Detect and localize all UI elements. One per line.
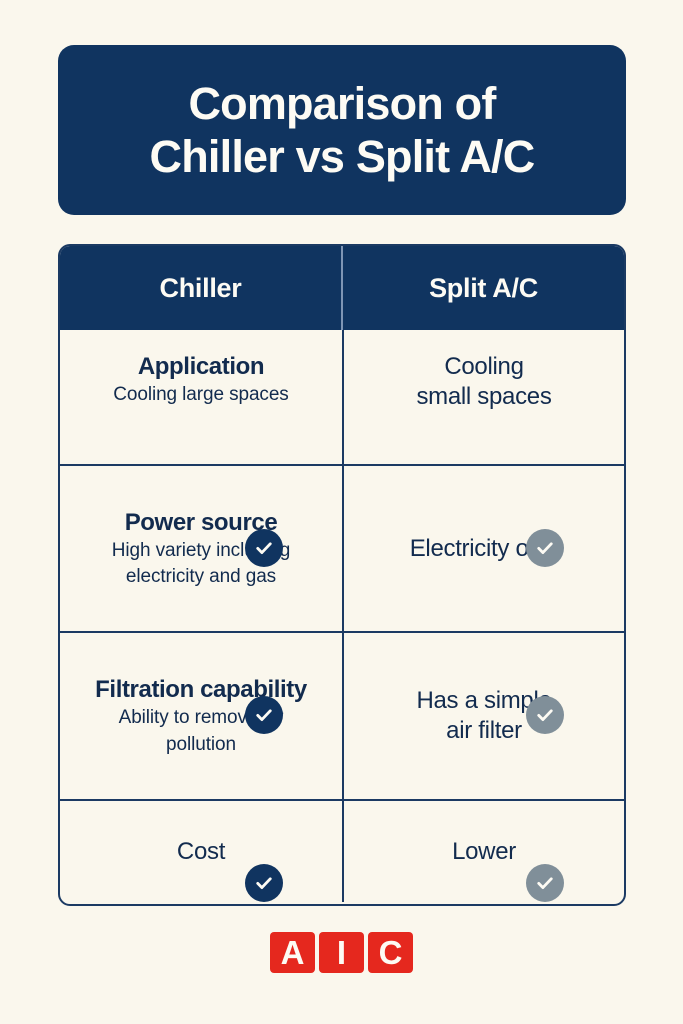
cell-split-power-source: Electricity only [342,466,624,631]
cell-value-line-2: air filter [446,716,522,746]
cell-value-line-1: Electricity only [410,534,559,564]
cell-chiller-filtration: Filtration capability Ability to remove … [60,633,342,799]
comparison-table: Chiller Split A/C Application Cooling la… [58,244,626,906]
cell-subtitle-line-1: Ability to remove air [119,706,284,730]
logo-tile-i: I [319,932,364,973]
cell-title: Application [138,352,264,381]
aic-logo: A I C [0,932,683,973]
title-banner: Comparison of Chiller vs Split A/C [58,45,626,215]
column-header-split-ac: Split A/C [341,246,624,330]
table-row: Application Cooling large spaces Cooling… [60,330,624,464]
column-header-chiller: Chiller [60,246,341,330]
page-title-line-2: Chiller vs Split A/C [150,130,535,183]
logo-tile-c: C [368,932,413,973]
cell-title: Cost [177,837,225,867]
table-row: Power source High variety including elec… [60,464,624,631]
infographic-root: Comparison of Chiller vs Split A/C Chill… [0,0,683,1024]
cell-title: Filtration capability [95,675,307,704]
cell-chiller-application: Application Cooling large spaces [60,330,342,464]
cell-subtitle-line-2: electricity and gas [126,565,276,589]
cell-value-line-1: Cooling [444,352,523,382]
cell-split-filtration: Has a simple air filter [342,633,624,799]
page-title-line-1: Comparison of [188,77,495,130]
cell-split-application: Cooling small spaces [342,330,624,464]
cell-value-line-1: Has a simple [416,686,551,716]
cell-subtitle-line-2: pollution [166,733,236,757]
cell-value-line-1: Lower [452,837,516,867]
cell-value-line-2: small spaces [416,382,551,412]
table-header-row: Chiller Split A/C [60,246,624,330]
cell-split-cost: Lower [342,801,624,902]
cell-subtitle-line-1: High variety including [112,539,290,563]
cell-subtitle: Cooling large spaces [113,383,288,407]
cell-title: Power source [125,508,278,537]
table-body: Application Cooling large spaces Cooling… [60,330,624,904]
table-row: Cost Lower [60,799,624,902]
table-row: Filtration capability Ability to remove … [60,631,624,799]
logo-tile-a: A [270,932,315,973]
cell-chiller-power-source: Power source High variety including elec… [60,466,342,631]
cell-chiller-cost: Cost [60,801,342,902]
